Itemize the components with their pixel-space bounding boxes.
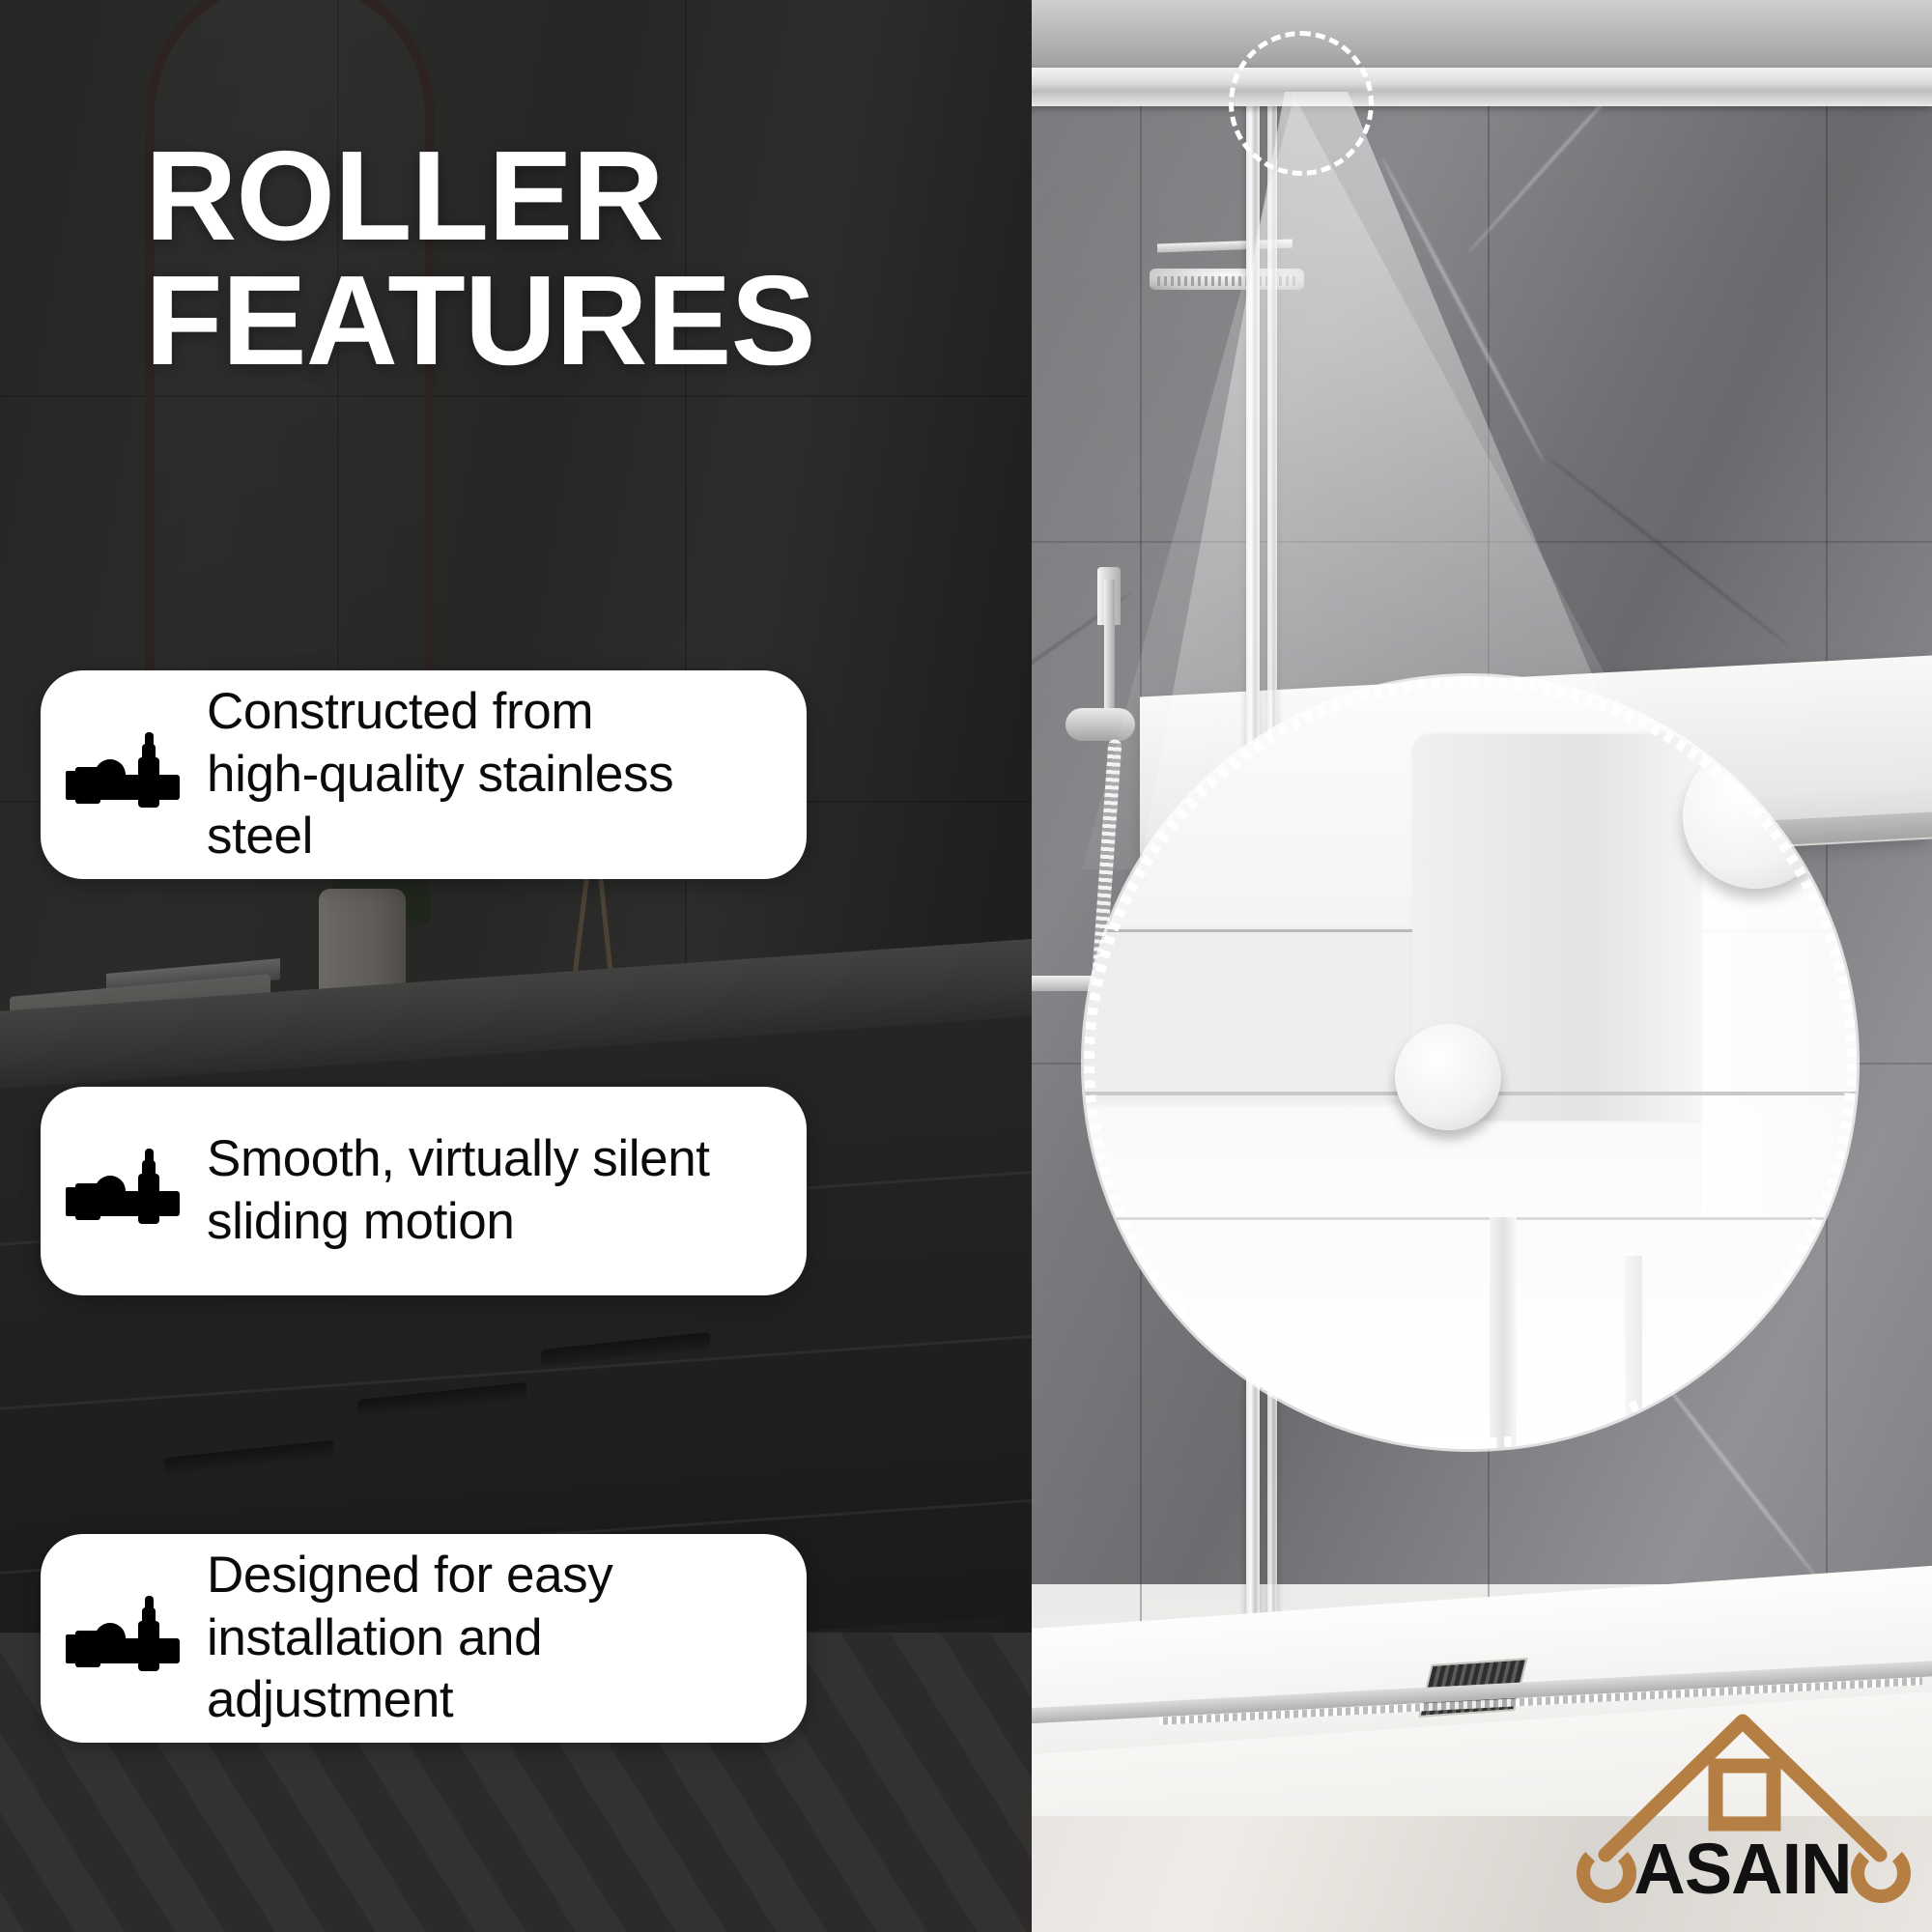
headline-line-2: FEATURES [145,258,937,383]
headline-line-1: ROLLER [145,125,664,267]
feature-card-text: Designed for easy installation and adjus… [207,1545,778,1732]
feature-card-text: Constructed from high-quality stainless … [207,681,778,868]
magnified-door-post [1490,1217,1517,1449]
callout-dashed-circle [1229,31,1374,176]
feature-card-constructed: Constructed from high-quality stainless … [41,670,807,879]
roller-wheel-small [1395,1024,1501,1130]
roller-hardware-icon [66,724,185,825]
roller-hardware-icon [66,1141,185,1241]
magnifier-detail-bubble [1084,676,1857,1449]
top-roller-track [995,68,1932,106]
logo-wordmark: ASAIN [1573,1824,1913,1913]
page-title: ROLLER FEATURES [145,133,937,384]
feature-card-smooth: Smooth, virtually silent sliding motion [41,1087,807,1295]
infographic-canvas: ROLLER FEATURES Constructed from high-qu… [0,0,1932,1932]
brand-logo: ASAIN [1573,1708,1913,1915]
roller-hardware-icon [66,1588,185,1689]
feature-card-text: Smooth, virtually silent sliding motion [207,1128,710,1253]
roller-wheel-large [1683,744,1828,889]
feature-card-easy-install: Designed for easy installation and adjus… [41,1534,807,1743]
magnified-door-post-secondary [1625,1256,1642,1449]
